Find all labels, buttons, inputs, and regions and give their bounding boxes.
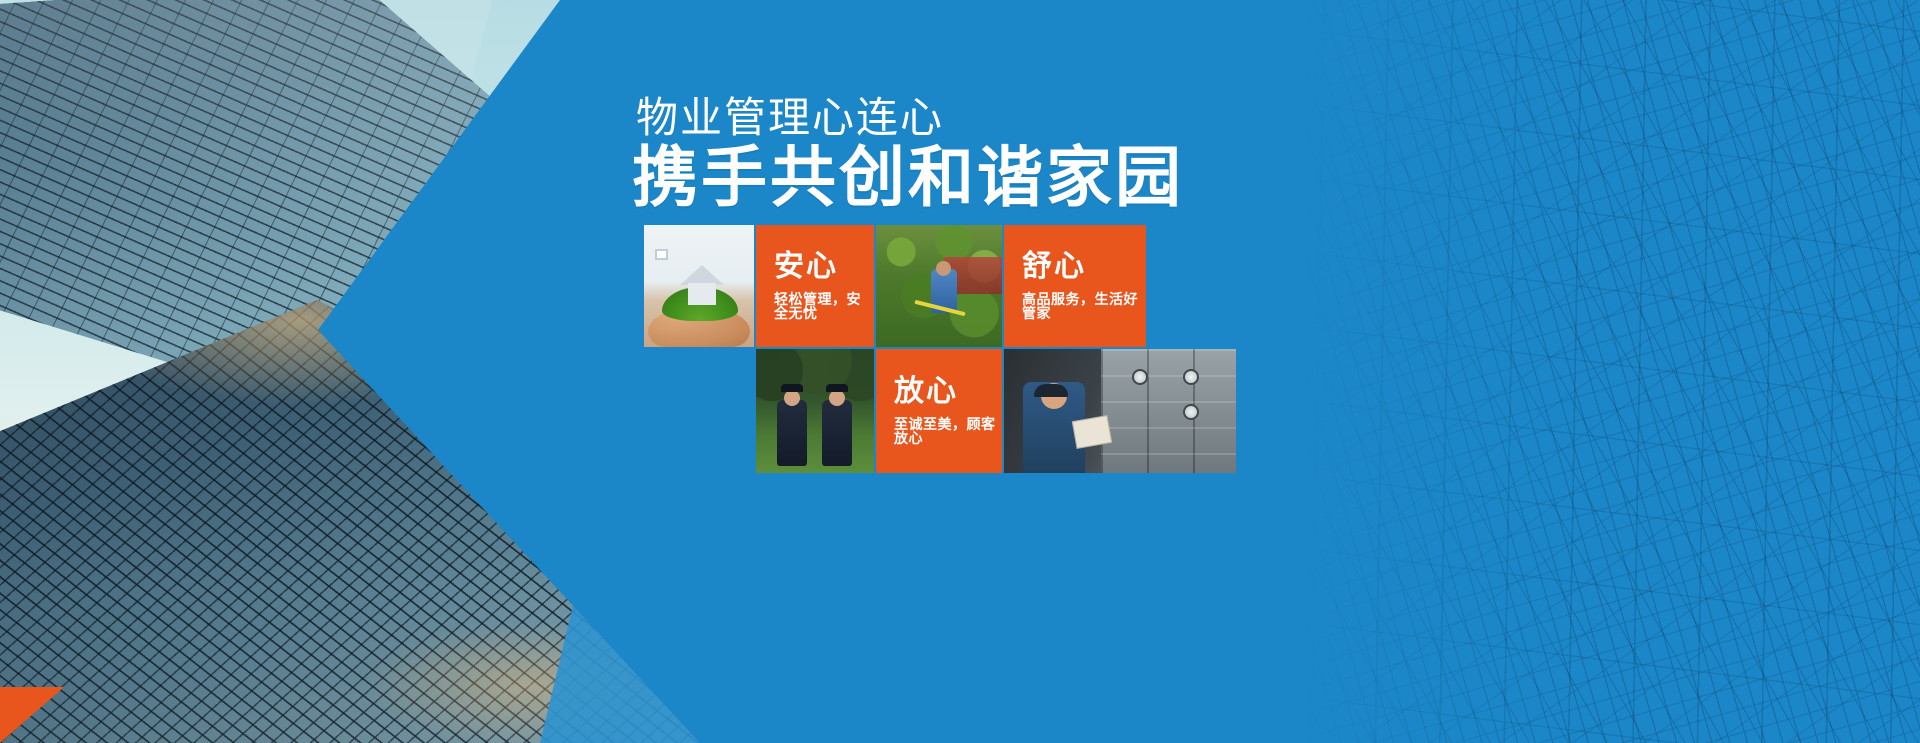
headline-title: 携手共创和谐家园 <box>632 144 1272 211</box>
photo-security-guards <box>756 349 874 473</box>
photo-gardener-trimming-hedge <box>876 225 1002 347</box>
panel-dial-icon <box>1132 369 1148 385</box>
feature-card-shuxin[interactable]: 舒心 高品服务，生活好管家 <box>1004 225 1146 347</box>
feature-card-desc: 轻松管理，安全无忧 <box>774 292 874 320</box>
feature-card-desc: 至诚至美，顾客放心 <box>894 417 1002 445</box>
guard-two-body-shape <box>822 400 852 466</box>
hero-banner: 物业管理心连心 携手共创和谐家园 安心 轻松管理，安全无忧 <box>0 0 1920 743</box>
feature-card-title: 安心 <box>774 252 874 282</box>
house-window-shape <box>655 249 668 260</box>
house-body-shape <box>688 283 716 305</box>
guard-two-cap-shape <box>826 384 848 392</box>
headline-subtitle: 物业管理心连心 <box>636 96 1272 140</box>
tree-canopy-shape <box>756 349 874 421</box>
house-model-shape <box>684 265 720 305</box>
house-roof-shape <box>680 265 724 285</box>
guard-two-head-shape <box>829 390 845 406</box>
guard-one-cap-shape <box>781 384 803 392</box>
feature-card-title: 舒心 <box>1022 252 1146 282</box>
panel-dial-icon <box>1183 404 1199 420</box>
feature-card-fangxin[interactable]: 放心 至诚至美，顾客放心 <box>876 349 1002 473</box>
feature-card-title: 放心 <box>894 377 1002 407</box>
blueprint-backdrop <box>1300 0 1920 743</box>
electrician-helmet-shape <box>1034 384 1068 397</box>
feature-mosaic: 安心 轻松管理，安全无忧 舒心 高品服务，生活好管家 <box>644 225 1256 477</box>
feature-card-desc: 高品服务，生活好管家 <box>1022 292 1146 320</box>
blueprint-fade-mask <box>1300 0 1920 743</box>
guard-one-body-shape <box>777 400 807 466</box>
switchgear-panel-shape <box>1101 349 1236 473</box>
photo-hands-holding-grass-house <box>644 225 754 347</box>
banner-content: 物业管理心连心 携手共创和谐家园 安心 轻松管理，安全无忧 <box>632 96 1272 477</box>
feature-card-anxin[interactable]: 安心 轻松管理，安全无忧 <box>756 225 874 347</box>
photo-electrician-switchgear <box>1004 349 1236 473</box>
